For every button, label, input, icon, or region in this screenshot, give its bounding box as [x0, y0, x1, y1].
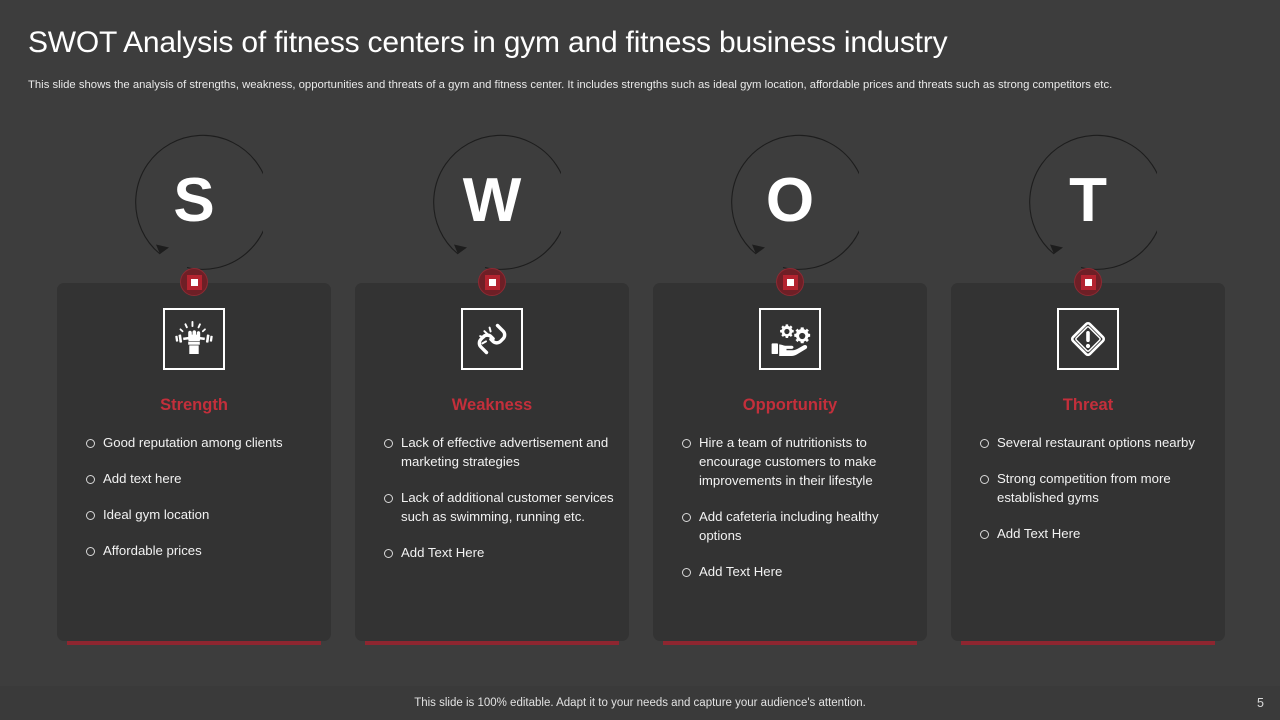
node-marker-inner: [485, 275, 500, 290]
connector-node-marker: [478, 268, 506, 296]
hand-dumbbell-strength-icon: [163, 308, 225, 370]
card-heading: Strength: [57, 396, 331, 415]
circular-arrow-badge: T: [1019, 132, 1157, 270]
swot-card[interactable]: Weakness Lack of effective advertisement…: [355, 283, 629, 641]
slide-description: This slide shows the analysis of strengt…: [28, 78, 1208, 93]
node-marker-inner: [1081, 275, 1096, 290]
broken-chain-link-icon: [461, 308, 523, 370]
list-item: Lack of effective advertisement and mark…: [377, 433, 617, 471]
swot-column-weakness: W Weakness Lack of effective advertiseme…: [343, 130, 641, 650]
swot-card[interactable]: Threat Several restaurant options nearby…: [951, 283, 1225, 641]
connector-node-marker: [180, 268, 208, 296]
list-item: Add text here: [79, 469, 319, 488]
card-bullet-list: Lack of effective advertisement and mark…: [377, 433, 617, 579]
connector-node-marker: [1074, 268, 1102, 296]
card-bullet-list: Several restaurant options nearbyStrong …: [973, 433, 1213, 560]
swot-column-strength: S: [45, 130, 343, 650]
connector-node-marker: [776, 268, 804, 296]
page-title: SWOT Analysis of fitness centers in gym …: [28, 26, 947, 60]
hand-holding-gears-icon: [759, 308, 821, 370]
swot-card[interactable]: Opportunity Hire a team of nutritionists…: [653, 283, 927, 641]
footer-bar: This slide is 100% editable. Adapt it to…: [0, 686, 1280, 720]
node-marker-dot: [191, 279, 198, 286]
card-heading: Threat: [951, 396, 1225, 415]
swot-letter: O: [721, 132, 859, 270]
circular-arrow-badge: O: [721, 132, 859, 270]
circular-arrow-badge: S: [125, 132, 263, 270]
card-accent-bar: [961, 641, 1215, 645]
card-bullet-list: Hire a team of nutritionists to encourag…: [675, 433, 915, 598]
list-item: Good reputation among clients: [79, 433, 319, 452]
swot-columns: S: [0, 130, 1280, 650]
swot-letter: W: [423, 132, 561, 270]
page-number: 5: [1257, 686, 1264, 720]
warning-diamond-exclamation-icon: [1057, 308, 1119, 370]
list-item: Ideal gym location: [79, 505, 319, 524]
list-item: Hire a team of nutritionists to encourag…: [675, 433, 915, 490]
circular-arrow-badge: W: [423, 132, 561, 270]
swot-letter: S: [125, 132, 263, 270]
card-accent-bar: [67, 641, 321, 645]
swot-column-opportunity: O Opportunity Hire a team of nutritionis…: [641, 130, 939, 650]
list-item: Add Text Here: [377, 543, 617, 562]
list-item: Affordable prices: [79, 541, 319, 560]
node-marker-inner: [187, 275, 202, 290]
node-marker-inner: [783, 275, 798, 290]
swot-column-threat: T Threat Several restaurant options near…: [939, 130, 1237, 650]
node-marker-dot: [489, 279, 496, 286]
list-item: Add Text Here: [675, 562, 915, 581]
node-marker-dot: [1085, 279, 1092, 286]
list-item: Add cafeteria including healthy options: [675, 507, 915, 545]
node-marker-dot: [787, 279, 794, 286]
list-item: Lack of additional customer services suc…: [377, 488, 617, 526]
footer-note: This slide is 100% editable. Adapt it to…: [0, 686, 1280, 720]
list-item: Add Text Here: [973, 524, 1213, 543]
list-item: Several restaurant options nearby: [973, 433, 1213, 452]
card-heading: Opportunity: [653, 396, 927, 415]
card-bullet-list: Good reputation among clientsAdd text he…: [79, 433, 319, 577]
card-heading: Weakness: [355, 396, 629, 415]
swot-letter: T: [1019, 132, 1157, 270]
card-accent-bar: [663, 641, 917, 645]
card-accent-bar: [365, 641, 619, 645]
swot-card[interactable]: Strength Good reputation among clientsAd…: [57, 283, 331, 641]
list-item: Strong competition from more established…: [973, 469, 1213, 507]
